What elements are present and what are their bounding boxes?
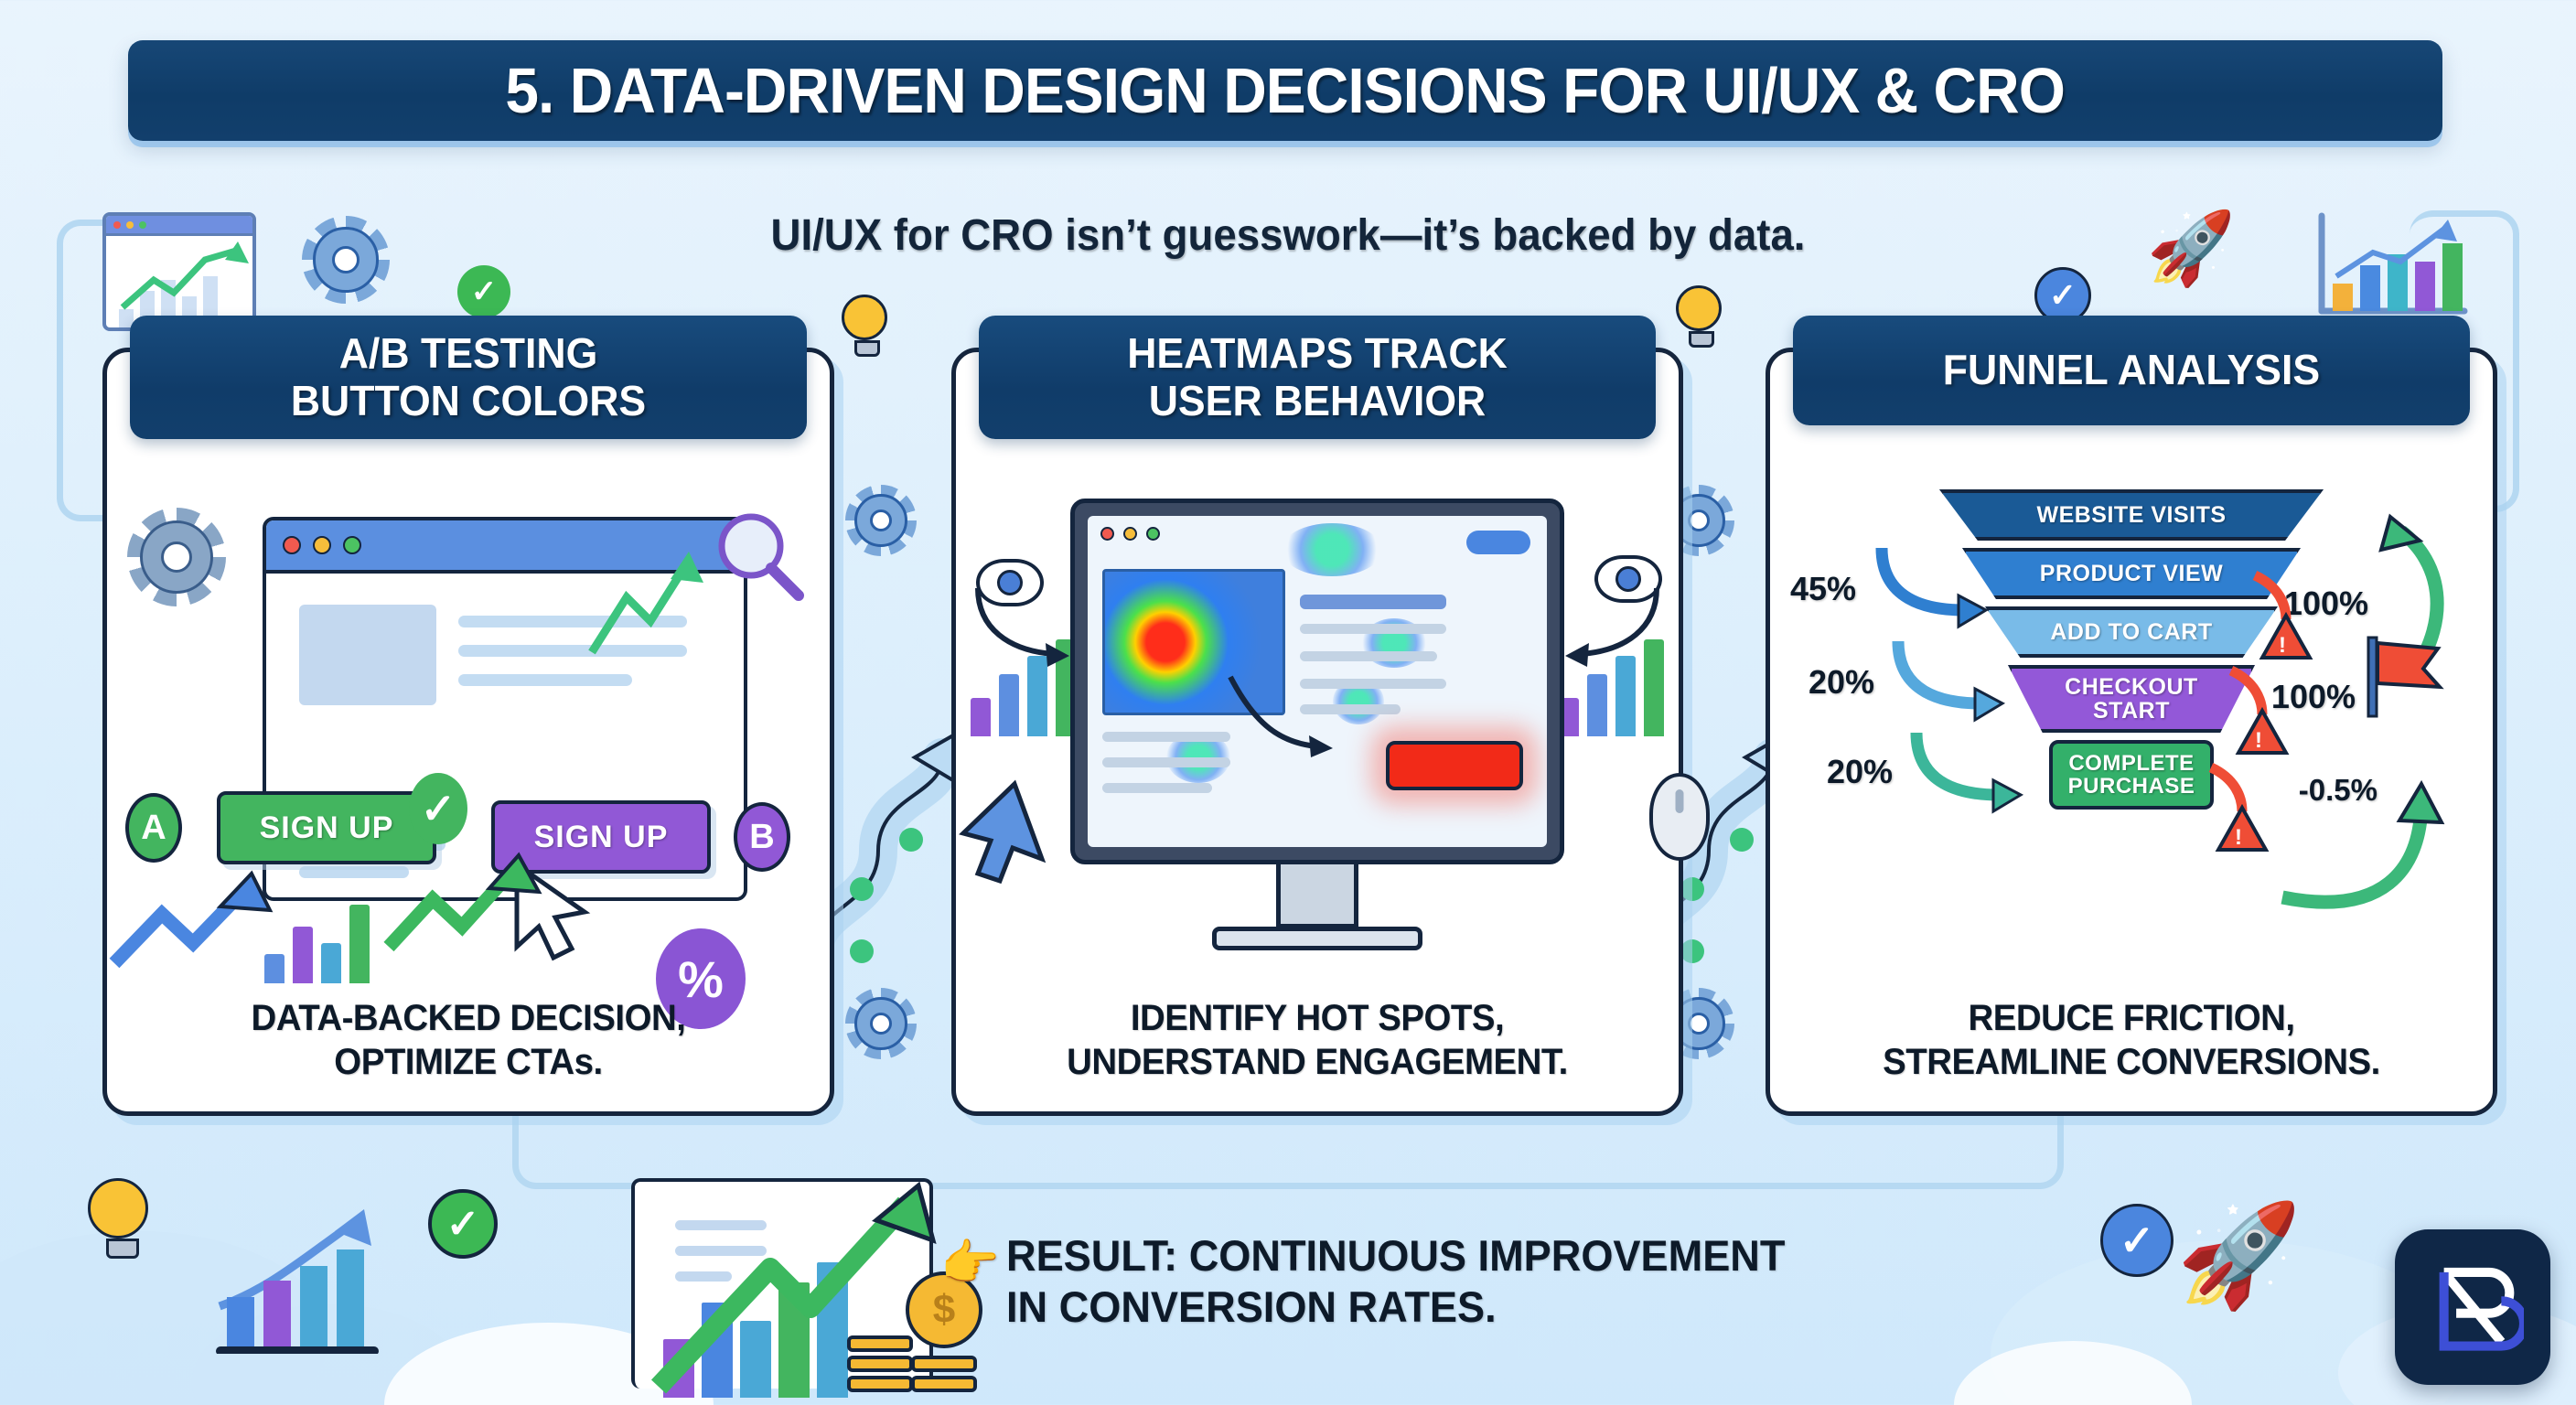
page-subtitle: UI/UX for CRO isn’t guesswork—it’s backe… [64, 210, 2511, 261]
pointing-hand-icon: 👉 [940, 1234, 1000, 1293]
bar-chart-growth-icon [207, 1189, 390, 1354]
funnel-stage: CHECKOUT START [2008, 665, 2255, 733]
mini-bar-chart [264, 901, 370, 983]
card-illustration [956, 499, 1679, 974]
card-funnel-analysis[interactable]: FUNNEL ANALYSIS WEBSITE VISITS PRODUCT V… [1766, 348, 2497, 1116]
card-title-line2: BUTTON COLORS [149, 378, 788, 425]
svg-text:!: ! [2235, 825, 2242, 850]
check-badge-icon: ✓ [2100, 1204, 2173, 1277]
annotation-arrow-icon [972, 583, 1082, 674]
funnel-stage-line: PURCHASE [2068, 775, 2195, 798]
svg-text:!: ! [2279, 633, 2286, 658]
funnel-flow-arrow-icon [1904, 727, 2041, 819]
result-line2: IN CONVERSION RATES. [1006, 1282, 2104, 1333]
funnel-flow-arrow-icon [1885, 636, 2023, 727]
gear-icon [302, 216, 390, 304]
image-placeholder [299, 605, 436, 705]
bar-chart-growth-icon [2309, 209, 2474, 327]
lightbulb-icon [88, 1178, 157, 1262]
mouse-icon [1649, 773, 1710, 861]
funnel-stage-line: COMPLETE [2068, 752, 2194, 775]
card-caption: IDENTIFY HOT SPOTS, UNDERSTAND ENGAGEMEN… [956, 996, 1679, 1084]
analytics-window-icon [102, 212, 256, 331]
annotation-arrow-icon [1225, 671, 1344, 772]
gear-icon [845, 485, 917, 556]
monitor-stand [1276, 864, 1358, 928]
funnel-flow-arrow-icon [1869, 542, 2006, 634]
minimize-dot [313, 536, 331, 554]
result-line1: RESULT: CONTINUOUS IMPROVEMENT [1006, 1230, 2104, 1282]
caption-line1: DATA-BACKED DECISION, [122, 996, 815, 1040]
caption-line1: REDUCE FRICTION, [1785, 996, 2478, 1040]
lightbulb-icon [842, 295, 893, 359]
close-dot [283, 536, 301, 554]
funnel-stage: COMPLETE PURCHASE [2049, 740, 2214, 810]
card-illustration: WEBSITE VISITS PRODUCT VIEW ADD TO CART … [1770, 499, 2493, 974]
card-title-line1: HEATMAPS TRACK [998, 330, 1637, 378]
maximize-dot [343, 536, 361, 554]
check-circle-icon: ✓ [428, 1189, 498, 1259]
monitor-base [1212, 927, 1422, 950]
funnel-stage: WEBSITE VISITS [1939, 489, 2324, 541]
screen [1088, 516, 1547, 847]
card-heatmaps[interactable]: HEATMAPS TRACK USER BEHAVIOR [951, 348, 1683, 1116]
winner-check-icon: ✓ [409, 773, 467, 844]
gear-icon [127, 508, 226, 606]
variant-a-badge: A [125, 793, 182, 863]
funnel-stage-line: START [2093, 699, 2170, 723]
page-title: 5. DATA-DRIVEN DESIGN DECISIONS FOR UI/U… [506, 54, 2066, 127]
brand-logo [2395, 1229, 2550, 1385]
card-title-line1: FUNNEL ANALYSIS [1812, 347, 2451, 394]
check-circle-icon: ✓ [457, 265, 510, 318]
card-caption: REDUCE FRICTION, STREAMLINE CONVERSIONS. [1770, 996, 2493, 1084]
result-statement: 👉 RESULT: CONTINUOUS IMPROVEMENT IN CONV… [1006, 1230, 2150, 1334]
card-header: A/B TESTING BUTTON COLORS [130, 316, 807, 439]
card-caption: DATA-BACKED DECISION, OPTIMIZE CTAs. [107, 996, 830, 1084]
funnel-drop-rate: 20% [1809, 663, 1874, 702]
caption-line2: OPTIMIZE CTAs. [122, 1040, 815, 1084]
card-header: HEATMAPS TRACK USER BEHAVIOR [979, 316, 1656, 439]
optimization-loop-arrow-icon [2255, 705, 2474, 916]
card-title-line1: A/B TESTING [149, 330, 788, 378]
rocket-icon: 🚀 [2147, 212, 2236, 284]
annotation-arrow-icon [1552, 583, 1662, 674]
funnel-drop-rate: 45% [1790, 570, 1856, 608]
card-header: FUNNEL ANALYSIS [1793, 316, 2470, 425]
cta-button-hotspot[interactable] [1386, 741, 1523, 790]
gear-icon [845, 988, 917, 1059]
logo-mark-icon [2421, 1256, 2524, 1358]
card-illustration: A SIGN UP ✓ SIGN UP B % [107, 499, 830, 974]
cursor-pointer-icon [947, 773, 1057, 901]
caption-line2: STREAMLINE CONVERSIONS. [1785, 1040, 2478, 1084]
magnifier-icon [711, 508, 810, 606]
card-title-line2: USER BEHAVIOR [998, 378, 1637, 425]
card-ab-testing[interactable]: A/B TESTING BUTTON COLORS [102, 348, 834, 1116]
lightbulb-icon [1676, 285, 1727, 349]
funnel-drop-rate: 20% [1827, 753, 1893, 791]
variant-b-badge: B [734, 802, 790, 872]
monitor-mockup [1070, 499, 1564, 864]
flag-icon [2359, 634, 2460, 725]
funnel-stage: ADD TO CART [1985, 606, 2278, 658]
caption-line1: IDENTIFY HOT SPOTS, [971, 996, 1664, 1040]
rocket-icon: 🚀 [2176, 1206, 2302, 1306]
funnel-stage-line: CHECKOUT [2065, 675, 2198, 699]
page-title-bar: 5. DATA-DRIVEN DESIGN DECISIONS FOR UI/U… [128, 40, 2442, 141]
caption-line2: UNDERSTAND ENGAGEMENT. [971, 1040, 1664, 1084]
green-trend-arrow-icon [372, 846, 601, 965]
